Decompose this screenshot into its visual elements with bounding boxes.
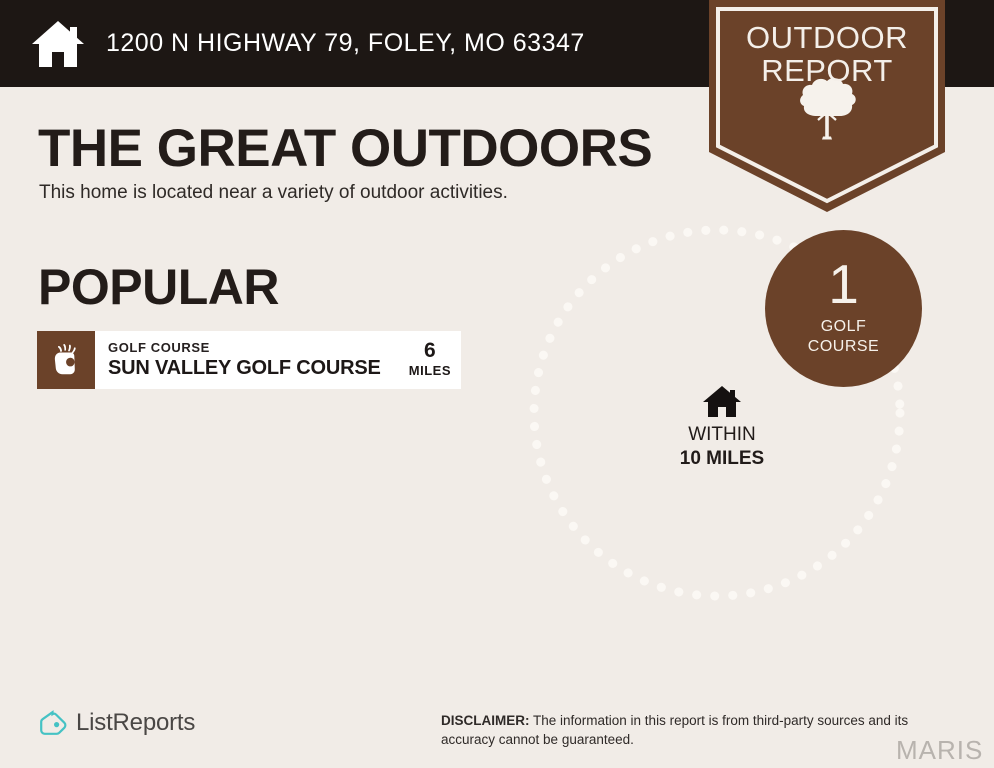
radius-label-line2: 10 MILES	[642, 447, 802, 471]
amenity-distance-value: 6	[424, 340, 436, 361]
amenity-texts: GOLF COURSE SUN VALLEY GOLF COURSE	[108, 340, 381, 379]
outdoor-report-badge: OUTDOOR REPORT	[709, 0, 945, 212]
section-title-popular: POPULAR	[38, 258, 279, 316]
count-badge-label: GOLF COURSE	[808, 317, 879, 357]
home-icon	[642, 385, 802, 418]
disclaimer: DISCLAIMER: The information in this repo…	[441, 712, 961, 749]
radius-center-label: WITHIN 10 MILES	[642, 385, 802, 471]
amenity-distance-unit: MILES	[409, 361, 451, 381]
amenity-category: GOLF COURSE	[108, 340, 381, 356]
list-item[interactable]: GOLF COURSE SUN VALLEY GOLF COURSE 6 MIL…	[37, 331, 461, 389]
amenity-name: SUN VALLEY GOLF COURSE	[108, 357, 381, 380]
listreports-logo-text: ListReports	[76, 709, 195, 737]
radius-label-line1: WITHIN	[642, 423, 802, 447]
disclaimer-label: DISCLAIMER:	[441, 713, 530, 728]
property-address: 1200 N HIGHWAY 79, FOLEY, MO 63347	[106, 29, 585, 58]
home-icon	[0, 19, 86, 69]
count-badge-label-line1: GOLF	[808, 317, 879, 337]
golf-bag-icon	[37, 331, 95, 389]
listreports-house-tag-icon	[39, 709, 67, 737]
page-title: THE GREAT OUTDOORS	[38, 118, 652, 179]
count-badge-number: 1	[828, 258, 859, 310]
count-badge-golf-course: 1 GOLF COURSE	[765, 230, 922, 387]
amenity-body: GOLF COURSE SUN VALLEY GOLF COURSE 6 MIL…	[95, 331, 461, 389]
listreports-logo[interactable]: ListReports	[39, 709, 195, 737]
count-badge-label-line2: COURSE	[808, 337, 879, 357]
amenity-distance: 6 MILES	[401, 340, 451, 381]
amenity-list: GOLF COURSE SUN VALLEY GOLF COURSE 6 MIL…	[37, 331, 461, 389]
page-subtitle: This home is located near a variety of o…	[39, 182, 508, 204]
maris-watermark: MARIS	[896, 735, 983, 766]
